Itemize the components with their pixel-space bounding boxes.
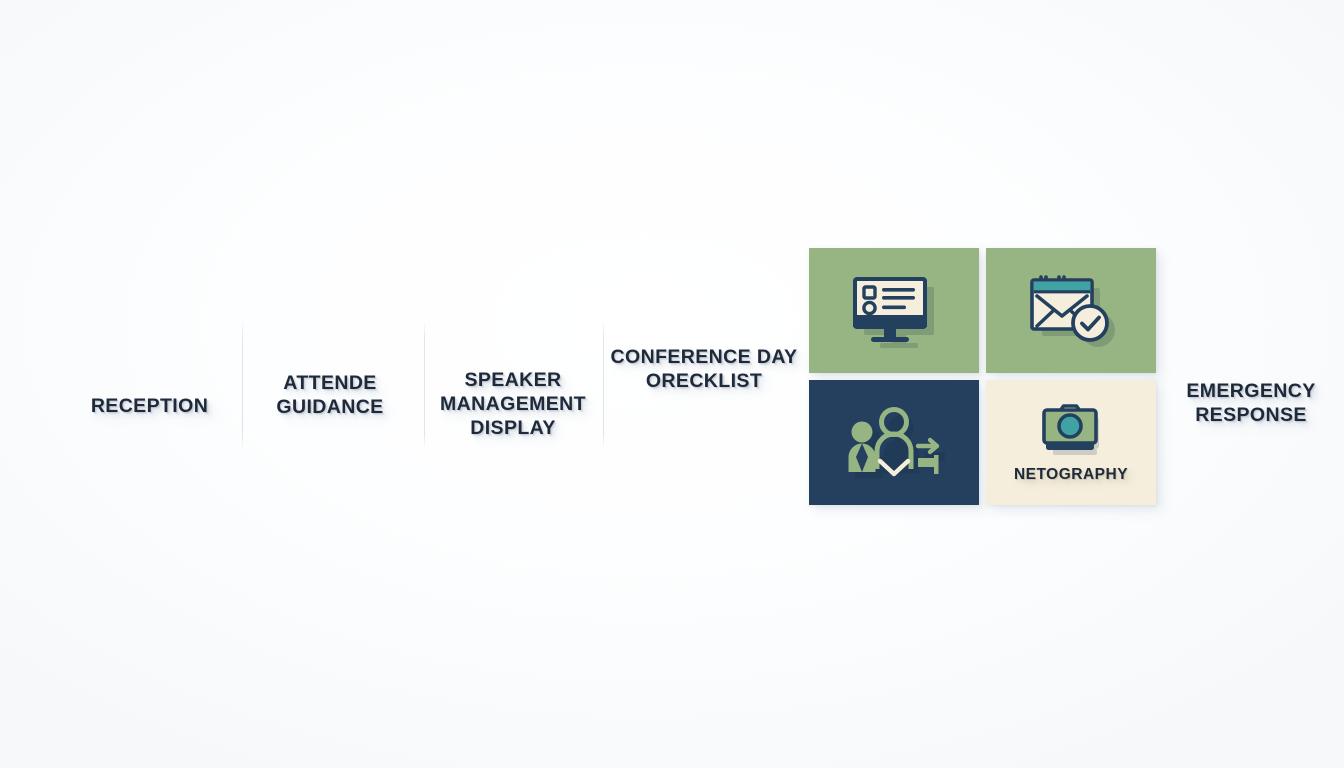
tile-caption-netography: Netography	[1014, 466, 1128, 484]
step-label-line: Display	[418, 416, 608, 440]
tile-netography[interactable]: Netography	[986, 380, 1156, 505]
camera-icon	[1038, 401, 1104, 457]
step-label-line: Management	[418, 392, 608, 416]
tile-invitation-confirmed[interactable]	[986, 248, 1156, 373]
step-label-line: Reception	[52, 394, 247, 418]
step-label-line: Orecklist	[606, 369, 802, 393]
step-label-line: Guidance	[236, 395, 424, 419]
infographic-canvas: Reception Attende Guidance Speaker Manag…	[0, 0, 1344, 768]
envelope-calendar-check-icon	[1027, 272, 1115, 350]
step-label-speaker-management-display[interactable]: Speaker Management Display	[418, 368, 608, 440]
step-label-line: Emergency	[1158, 379, 1344, 403]
step-label-line: Response	[1158, 403, 1344, 427]
step-label-conference-day-checklist[interactable]: Conference Day Orecklist	[606, 345, 802, 393]
tile-grid: Netography	[809, 248, 1156, 504]
tile-attendee-flow[interactable]	[809, 380, 979, 505]
step-label-line: Attende	[236, 371, 424, 395]
step-label-reception[interactable]: Reception	[52, 394, 247, 418]
monitor-list-icon	[851, 275, 937, 347]
people-arrow-icon	[844, 406, 944, 480]
step-label-emergency-response[interactable]: Emergency Response	[1158, 379, 1344, 427]
step-label-line: Speaker	[418, 368, 608, 392]
step-label-attendee-guidance[interactable]: Attende Guidance	[236, 371, 424, 419]
tile-display-board[interactable]	[809, 248, 979, 373]
step-label-line: Conference Day	[606, 345, 802, 369]
